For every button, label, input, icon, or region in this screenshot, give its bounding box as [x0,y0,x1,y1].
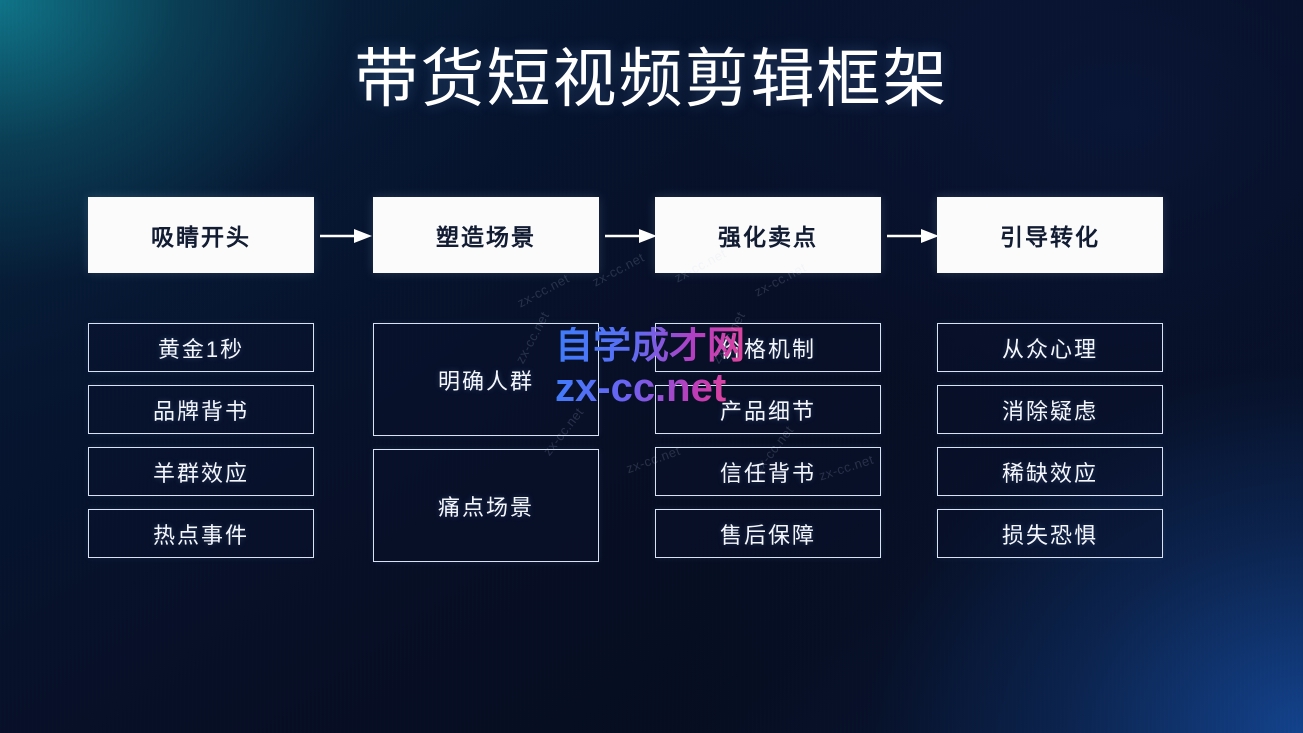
stage-header-label: 塑造场景 [436,218,536,252]
framework-column-2: 塑造场景 明确人群 痛点场景 [373,197,599,562]
list-item[interactable]: 热点事件 [88,509,314,558]
stage-items-4: 从众心理 消除疑虑 稀缺效应 损失恐惧 [937,323,1163,571]
slide-canvas: 带货短视频剪辑框架 吸睛开头 黄金1秒 品牌背书 羊群效应 热点事件 塑造场景 [0,0,1303,733]
list-item[interactable]: 羊群效应 [88,447,314,496]
stage-items-1: 黄金1秒 品牌背书 羊群效应 热点事件 [88,323,314,571]
stage-header-label: 强化卖点 [718,218,818,252]
framework-column-4: 引导转化 从众心理 消除疑虑 稀缺效应 损失恐惧 [937,197,1163,562]
list-item[interactable]: 明确人群 [373,323,599,436]
framework-column-1: 吸睛开头 黄金1秒 品牌背书 羊群效应 热点事件 [88,197,314,562]
page-title: 带货短视频剪辑框架 [0,46,1303,113]
framework-columns: 吸睛开头 黄金1秒 品牌背书 羊群效应 热点事件 塑造场景 [88,197,1163,562]
flow-arrow-icon-2 [605,228,657,244]
flow-arrow-icon-1 [320,228,372,244]
flow-arrow-icon-3 [887,228,939,244]
list-item[interactable]: 从众心理 [937,323,1163,372]
stage-header-label: 引导转化 [1000,218,1100,252]
list-item[interactable]: 黄金1秒 [88,323,314,372]
framework-column-3: 强化卖点 价格机制 产品细节 信任背书 售后保障 [655,197,881,562]
stage-items-3: 价格机制 产品细节 信任背书 售后保障 [655,323,881,571]
stage-header-2[interactable]: 塑造场景 [373,197,599,273]
list-item[interactable]: 品牌背书 [88,385,314,434]
list-item[interactable]: 损失恐惧 [937,509,1163,558]
stage-header-label: 吸睛开头 [151,218,251,252]
list-item[interactable]: 稀缺效应 [937,447,1163,496]
stage-items-2: 明确人群 痛点场景 [373,323,599,575]
list-item[interactable]: 产品细节 [655,385,881,434]
stage-header-1[interactable]: 吸睛开头 [88,197,314,273]
stage-header-4[interactable]: 引导转化 [937,197,1163,273]
list-item[interactable]: 价格机制 [655,323,881,372]
list-item[interactable]: 售后保障 [655,509,881,558]
list-item[interactable]: 信任背书 [655,447,881,496]
list-item[interactable]: 痛点场景 [373,449,599,562]
list-item[interactable]: 消除疑虑 [937,385,1163,434]
stage-header-3[interactable]: 强化卖点 [655,197,881,273]
